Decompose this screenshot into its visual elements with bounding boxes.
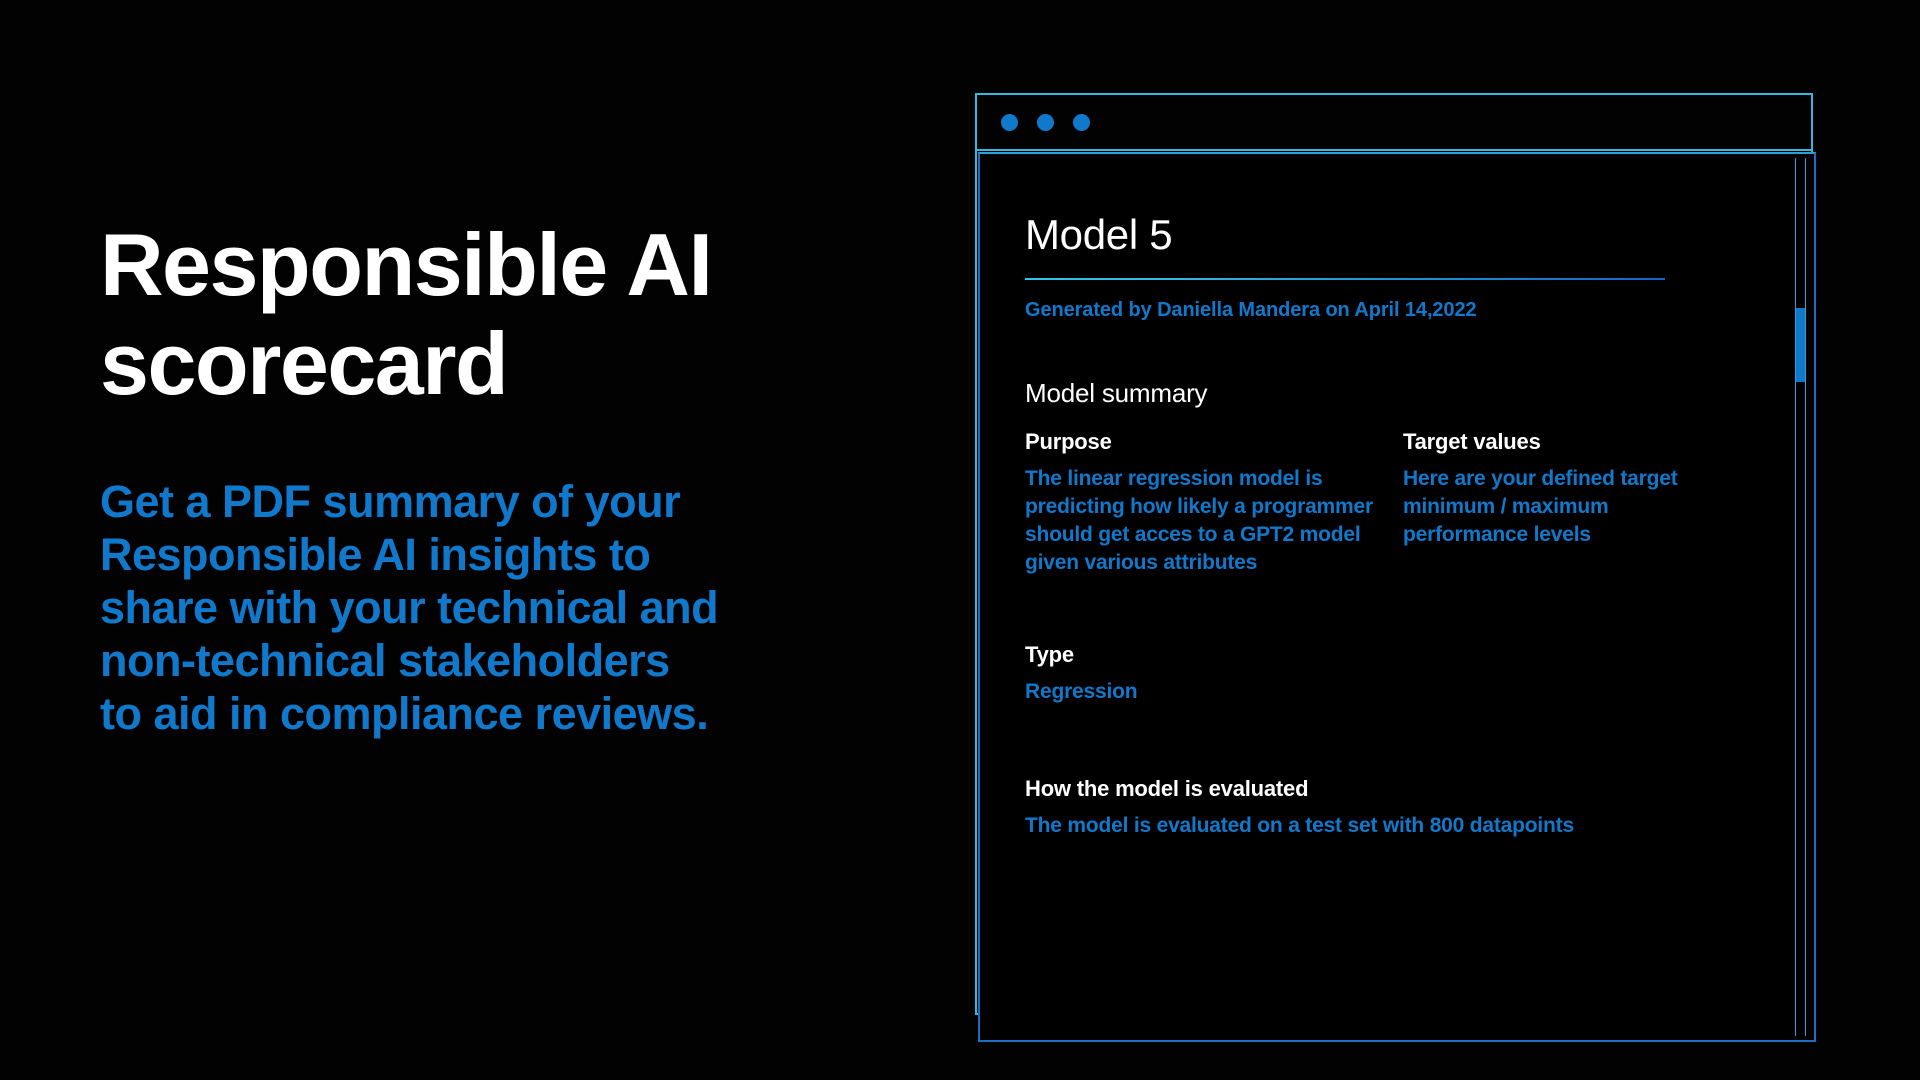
field-purpose-value: The linear regression model is predictin… — [1025, 465, 1403, 577]
window-dot-2-icon[interactable] — [1037, 114, 1054, 131]
document-title: Model 5 — [1025, 214, 1768, 256]
vertical-scrollbar-track[interactable] — [1795, 158, 1806, 1036]
window-dot-1-icon[interactable] — [1001, 114, 1018, 131]
field-target-values: Target values Here are your defined targ… — [1403, 429, 1723, 577]
title-divider — [1025, 278, 1665, 280]
field-evaluation-value: The model is evaluated on a test set wit… — [1025, 812, 1768, 840]
field-purpose-label: Purpose — [1025, 429, 1403, 455]
scorecard-document: Model 5 Generated by Daniella Mandera on… — [1025, 214, 1768, 840]
scorecard-window: Model 5 Generated by Daniella Mandera on… — [975, 93, 1815, 1046]
window-title-bar — [977, 95, 1811, 151]
document-byline: Generated by Daniella Mandera on April 1… — [1025, 299, 1768, 322]
vertical-scrollbar-thumb[interactable] — [1796, 308, 1805, 382]
section-heading-model-summary: Model summary — [1025, 378, 1768, 409]
summary-columns: Purpose The linear regression model is p… — [1025, 429, 1768, 577]
marketing-panel: Responsible AI scorecard Get a PDF summa… — [100, 216, 830, 741]
field-type-value: Regression — [1025, 678, 1768, 706]
field-type: Type Regression — [1025, 642, 1768, 706]
field-target-values-value: Here are your defined target minimum / m… — [1403, 465, 1723, 549]
field-target-values-label: Target values — [1403, 429, 1723, 455]
page-title: Responsible AI scorecard — [100, 216, 830, 413]
page-subtitle: Get a PDF summary of your Responsible AI… — [100, 475, 830, 740]
window-content-panel: Model 5 Generated by Daniella Mandera on… — [978, 152, 1816, 1042]
field-type-label: Type — [1025, 642, 1768, 668]
field-evaluation-label: How the model is evaluated — [1025, 776, 1768, 802]
window-dot-3-icon[interactable] — [1073, 114, 1090, 131]
field-evaluation: How the model is evaluated The model is … — [1025, 776, 1768, 840]
field-purpose: Purpose The linear regression model is p… — [1025, 429, 1403, 577]
